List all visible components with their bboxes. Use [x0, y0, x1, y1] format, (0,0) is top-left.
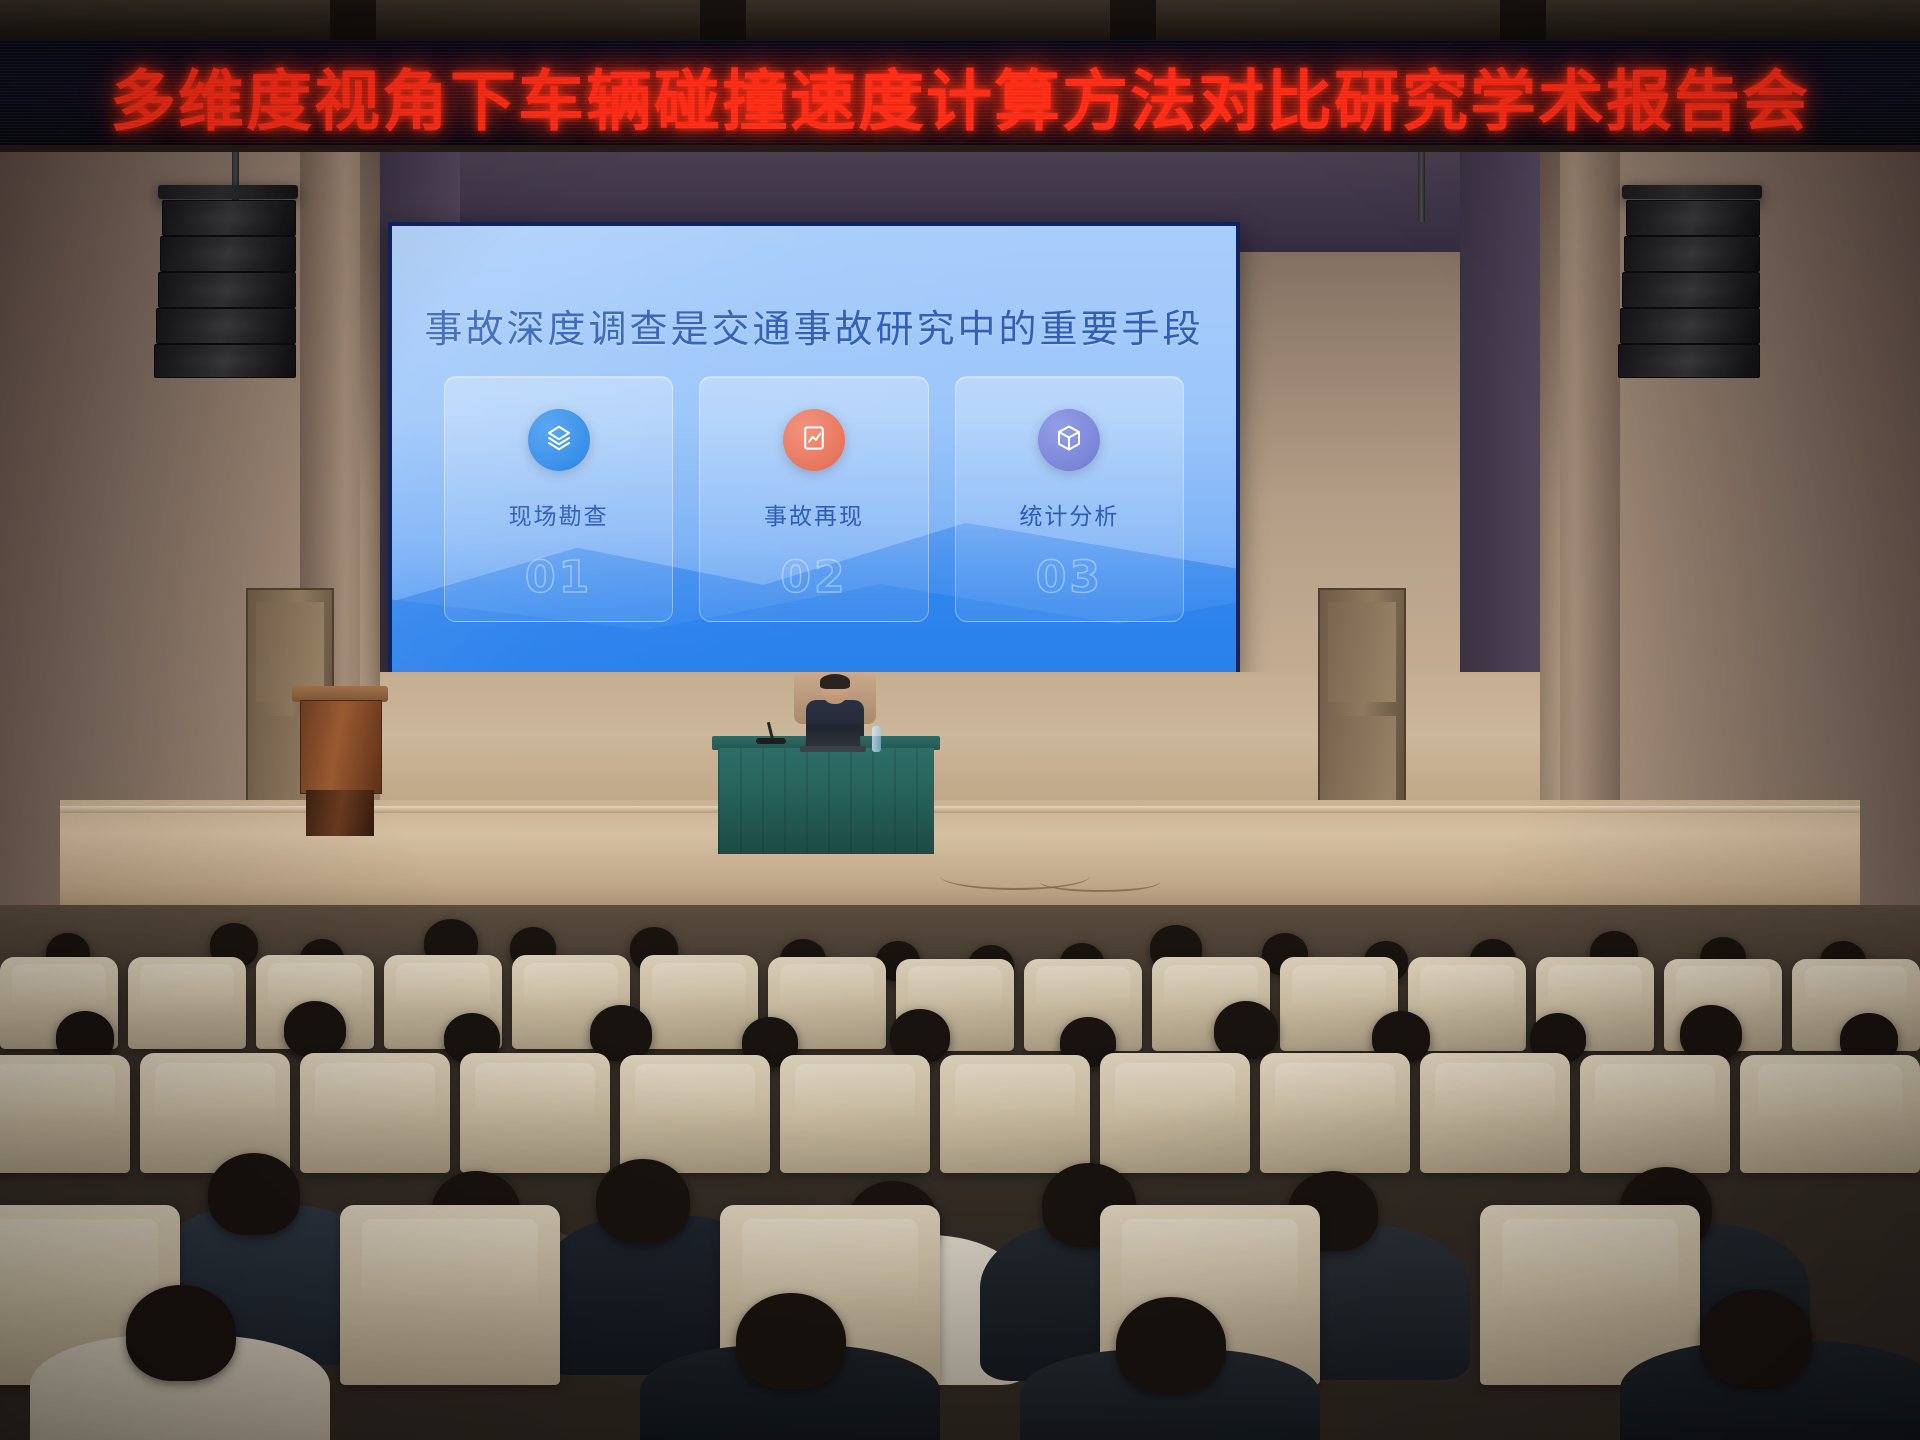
audience-head — [126, 1285, 236, 1381]
podium-base — [306, 790, 374, 836]
door-panel — [1328, 602, 1396, 702]
slide-card-2: 事故再现 02 — [699, 376, 928, 622]
audience-seat — [300, 1053, 450, 1173]
speaker-module — [162, 200, 296, 236]
speaker-module — [156, 308, 296, 344]
audience-seat — [1100, 1053, 1250, 1173]
card-label-3: 统计分析 — [1019, 497, 1119, 531]
presenter-hair — [820, 674, 850, 689]
microphone-base — [756, 738, 786, 744]
audience-seat — [1420, 1053, 1570, 1173]
speaker-module — [1624, 236, 1760, 272]
audience-head — [208, 1153, 300, 1235]
table-cloth — [718, 748, 934, 854]
speaker-module — [158, 272, 296, 308]
right-pillar — [1530, 152, 1620, 852]
microphone — [756, 722, 786, 744]
card-number-2: 02 — [700, 552, 927, 603]
audience-seat — [0, 1055, 130, 1173]
speaker-truss-right — [1418, 152, 1425, 222]
speaker-module — [1618, 344, 1760, 378]
floor-cable — [1040, 872, 1160, 892]
led-banner: 多维度视角下车辆碰撞速度计算方法对比研究学术报告会 — [0, 40, 1920, 152]
water-bottle — [872, 726, 881, 752]
speaker-mount-right — [1622, 185, 1762, 199]
projection-screen-frame: 事故深度调查是交通事故研究中的重要手段 现场勘查 01 — [388, 222, 1240, 680]
audience-seat — [620, 1055, 770, 1173]
card-icon-wrapper-1 — [528, 409, 590, 471]
audience-head — [1116, 1297, 1226, 1393]
audience-seat — [780, 1055, 930, 1173]
audience-head — [1680, 1005, 1742, 1061]
banner-title: 多维度视角下车辆碰撞速度计算方法对比研究学术报告会 — [110, 48, 1810, 144]
projection-screen: 事故深度调查是交通事故研究中的重要手段 现场勘查 01 — [392, 226, 1236, 676]
audience-head — [284, 1001, 346, 1057]
audience-seat — [460, 1053, 610, 1173]
slide-title: 事故深度调查是交通事故研究中的重要手段 — [392, 298, 1236, 353]
card-icon-wrapper-2 — [783, 409, 845, 471]
conference-hall-photo: 多维度视角下车辆碰撞速度计算方法对比研究学术报告会 事故深度调查是交通事故研究中… — [0, 0, 1920, 1440]
card-number-1: 01 — [445, 552, 672, 603]
laptop-base — [800, 746, 866, 752]
audience-seat — [1580, 1055, 1730, 1173]
card-icon-wrapper-3 — [1038, 409, 1100, 471]
speaker-mount-left — [158, 185, 298, 199]
layers-icon — [544, 423, 574, 458]
speaker-module — [160, 236, 296, 272]
audience-seat — [1740, 1055, 1920, 1173]
audience-head — [1214, 1001, 1278, 1059]
slide-card-row: 现场勘查 01 事故再现 02 — [444, 376, 1184, 622]
audience-seat — [1260, 1053, 1410, 1173]
audience-head — [596, 1159, 690, 1243]
slide-card-1: 现场勘查 01 — [444, 376, 673, 622]
audience-area — [0, 905, 1920, 1440]
audience-head — [1700, 1289, 1812, 1387]
speaker-module — [154, 344, 296, 378]
audience-head — [736, 1293, 846, 1389]
audience-seat — [128, 957, 246, 1049]
podium-body — [300, 700, 382, 794]
slide-card-3: 统计分析 03 — [955, 376, 1184, 622]
speaker-module — [1620, 308, 1760, 344]
speaker-module — [1626, 200, 1760, 236]
card-number-3: 03 — [956, 552, 1183, 603]
podium — [296, 686, 384, 834]
audience-seat — [340, 1205, 560, 1385]
audience-seat — [940, 1055, 1090, 1173]
card-label-1: 现场勘查 — [509, 497, 609, 531]
chart-document-icon — [799, 423, 829, 458]
cube-icon — [1054, 423, 1084, 458]
card-label-2: 事故再现 — [764, 497, 864, 531]
audience-seat — [640, 955, 758, 1049]
presenter-table — [712, 736, 940, 854]
speaker-module — [1622, 272, 1760, 308]
